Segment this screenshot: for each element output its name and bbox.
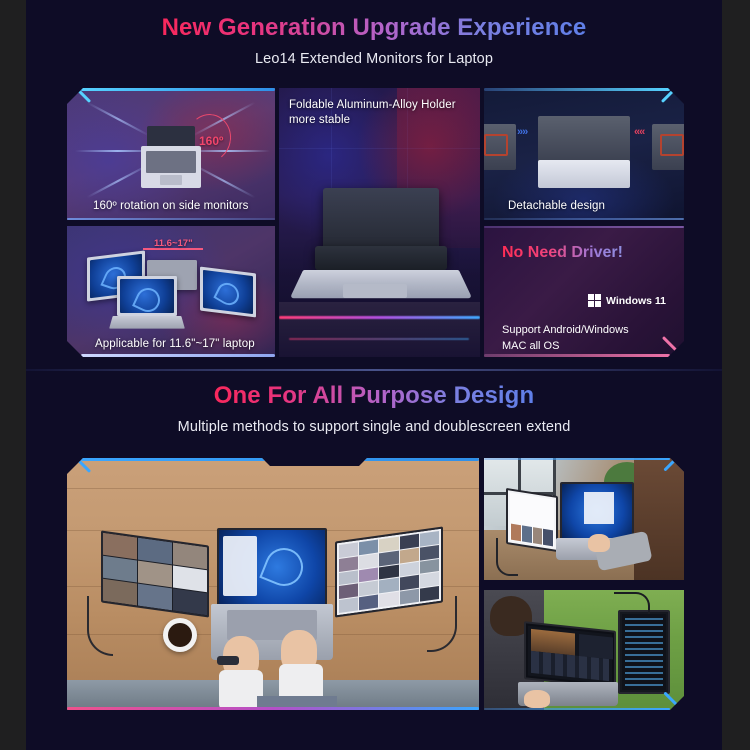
- open-window-panel: [223, 536, 257, 596]
- windows-logo-icon: [588, 294, 601, 307]
- rgb-light-strip: [279, 316, 480, 319]
- right-monitor-screen: [203, 270, 253, 314]
- person-clothing: [257, 696, 337, 710]
- photo-woman-desk: [484, 458, 684, 580]
- right-side-monitor: [200, 267, 256, 318]
- section-two-header: One For All Purpose Design Multiple meth…: [26, 382, 722, 435]
- video-tile: [173, 589, 207, 616]
- section-one-header: New Generation Upgrade Experience Leo14 …: [26, 14, 722, 67]
- laptop-wallpaper-swirl: [132, 284, 164, 313]
- section-one-subtitle: Leo14 Extended Monitors for Laptop: [26, 51, 722, 67]
- panel-rotation-caption: 160º rotation on side monitors: [93, 200, 249, 212]
- support-line-2: MAC all OS: [502, 340, 559, 352]
- product-infographic-page: New Generation Upgrade Experience Leo14 …: [26, 0, 722, 750]
- smart-watch: [217, 656, 239, 665]
- cable-woman: [496, 538, 518, 576]
- aluminum-holder: [315, 246, 447, 270]
- panel-detachable: »» «« Detachable design: [484, 88, 684, 220]
- wood-grain-1: [67, 488, 479, 489]
- laptop-keyboard: [146, 151, 196, 173]
- center-laptop-screen: [217, 528, 327, 606]
- left-module-frame: [484, 134, 508, 156]
- section-one-title: New Generation Upgrade Experience: [162, 14, 587, 42]
- support-line-1: Support Android/Windows: [502, 324, 629, 336]
- vertical-side-monitor: [618, 610, 670, 694]
- left-detached-module: [484, 124, 516, 170]
- angle-label: 160º: [199, 134, 223, 148]
- woman-hand: [588, 534, 610, 552]
- panel-detachable-caption: Detachable design: [508, 200, 605, 212]
- coffee-liquid: [168, 623, 192, 647]
- video-call-grid: [103, 533, 207, 616]
- panel-driver: No Need Driver! Windows 11 Support Andro…: [484, 226, 684, 357]
- panel-holder-caption: Foldable Aluminum-Alloy Holder more stab…: [289, 98, 456, 128]
- laptop-keyboard-deck: [109, 316, 185, 329]
- panel-size: 11.6~17" Applicable for 11.6"~17" laptop: [67, 226, 275, 357]
- laptop-screen: [120, 279, 174, 313]
- laptop-display: [117, 276, 177, 316]
- right-module-frame: [660, 134, 684, 156]
- laptop-open-window: [584, 492, 614, 524]
- rgb-light-reflection: [289, 338, 469, 340]
- section-two-title: One For All Purpose Design: [214, 382, 534, 410]
- section-two-subtitle: Multiple methods to support single and d…: [26, 419, 722, 435]
- desk-surface: [279, 302, 480, 357]
- video-tile: [138, 584, 172, 611]
- dimension-label: 11.6~17": [154, 238, 193, 249]
- section-divider: [26, 369, 722, 371]
- panel-size-caption: Applicable for 11.6"~17" laptop: [95, 338, 255, 350]
- windows-11-badge: Windows 11: [588, 294, 666, 307]
- holder-caption-line2: more stable: [289, 114, 350, 126]
- code-lines: [625, 618, 663, 686]
- photo-outdoor-coding: [484, 590, 684, 710]
- driver-support-text: Support Android/Windows MAC all OS: [502, 322, 629, 354]
- panel-rotation: 160º 160º rotation on side monitors: [67, 88, 275, 220]
- panel-holder: Foldable Aluminum-Alloy Holder more stab…: [279, 88, 480, 357]
- holder-caption-line1: Foldable Aluminum-Alloy Holder: [289, 99, 456, 111]
- laptop-screen-woman: [560, 482, 634, 540]
- laptop-trackpad-center: [343, 284, 407, 298]
- driver-headline: No Need Driver!: [502, 244, 623, 262]
- laptop-screen-outdoor: [524, 621, 616, 689]
- chevron-right-icon: »»: [517, 126, 527, 138]
- center-monitor-body: [538, 116, 630, 164]
- media-thumbnail-grid: [337, 529, 441, 616]
- right-detached-module: [652, 124, 684, 170]
- center-monitor-base: [538, 160, 630, 188]
- chevron-left-icon: ««: [634, 126, 644, 138]
- man-hand: [524, 690, 550, 708]
- coffee-cup: [163, 618, 197, 652]
- left-screen-video-call: [101, 530, 209, 617]
- laptop-trackpad: [160, 175, 182, 185]
- windows-wallpaper-swirl-right: [213, 279, 242, 310]
- photo-triple-desk: [67, 458, 479, 710]
- cable-outdoor: [614, 592, 650, 614]
- windows-badge-label: Windows 11: [606, 295, 666, 307]
